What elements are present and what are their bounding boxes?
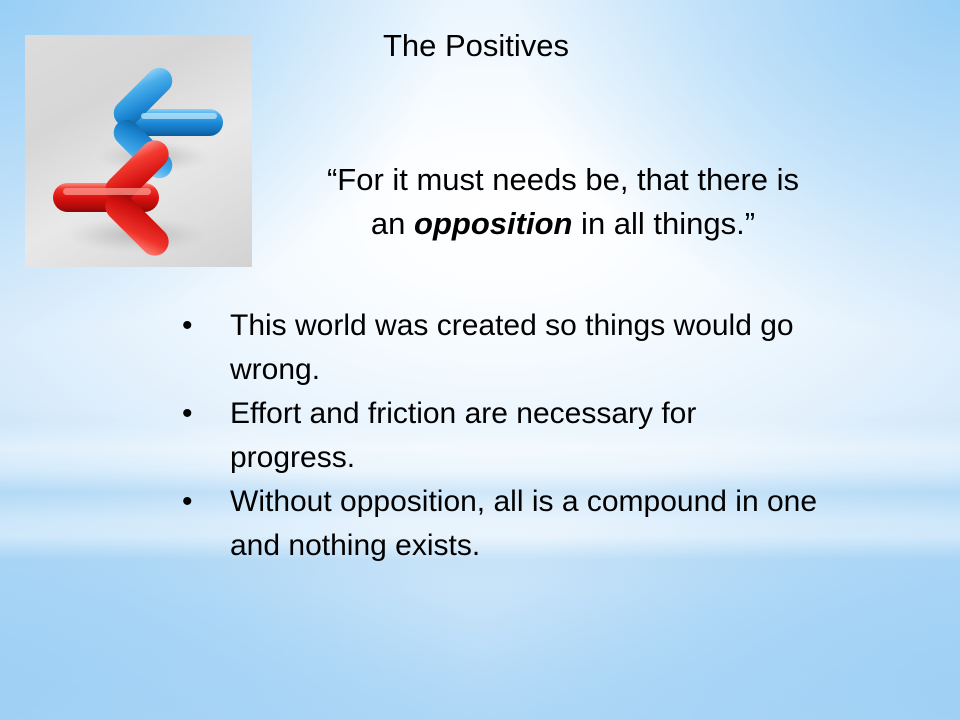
bullet-marker-icon: • xyxy=(178,304,230,348)
bullet-marker-icon: • xyxy=(178,392,230,436)
bullet-marker-icon: • xyxy=(178,480,230,524)
list-item-text: Effort and friction are necessary for pr… xyxy=(230,392,820,480)
quote-line-2-suffix: in all things.” xyxy=(572,206,755,241)
list-item: • Without opposition, all is a compound … xyxy=(178,480,878,568)
quote-line-2-prefix: an xyxy=(371,206,414,241)
opposing-arrows-image xyxy=(25,35,252,267)
slide-canvas: The Positives “For it must needs be, tha… xyxy=(0,0,960,720)
quote-text: “For it must needs be, that there is an … xyxy=(258,158,868,246)
bullet-list: • This world was created so things would… xyxy=(178,304,878,568)
list-item: • Effort and friction are necessary for … xyxy=(178,392,878,480)
list-item: • This world was created so things would… xyxy=(178,304,878,392)
list-item-text: This world was created so things would g… xyxy=(230,304,820,392)
page-title: The Positives xyxy=(280,27,672,65)
quote-line-1-text: “For it must needs be, that there is xyxy=(327,162,799,197)
list-item-text: Without opposition, all is a compound in… xyxy=(230,480,820,568)
quote-emphasis-word: opposition xyxy=(414,206,572,241)
